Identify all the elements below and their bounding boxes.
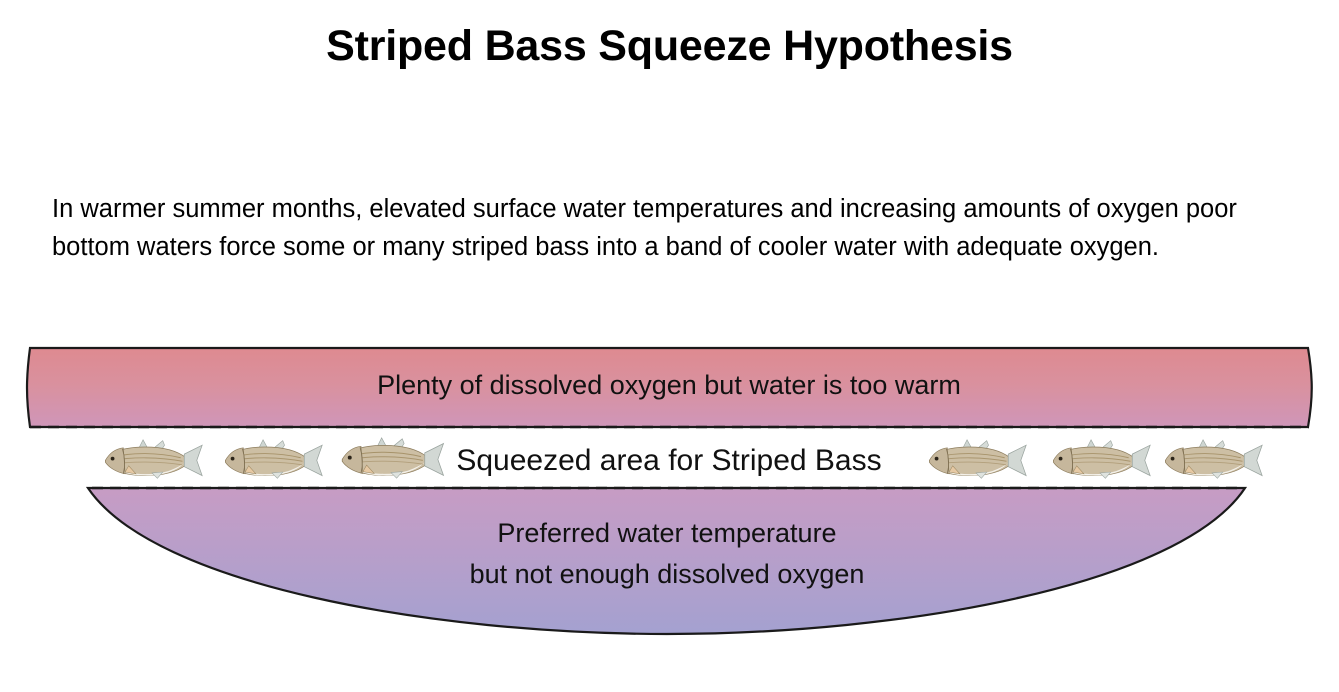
page-title: Striped Bass Squeeze Hypothesis: [0, 22, 1339, 71]
diagram-canvas: Plenty of dissolved oxygen but water is …: [0, 336, 1339, 646]
intro-paragraph: In warmer summer months, elevated surfac…: [52, 190, 1292, 266]
bottom-band-label-line-1: Preferred water temperature: [497, 518, 836, 548]
fish-icon: [225, 440, 322, 479]
bottom-band-label-line-2: but not enough dissolved oxygen: [470, 559, 865, 589]
fish-icon: [342, 438, 443, 478]
fish-icon: [105, 440, 202, 479]
top-band-label: Plenty of dissolved oxygen but water is …: [377, 370, 961, 400]
fish-icon: [1053, 440, 1150, 479]
layer-middle-squeezed-band: Squeezed area for Striped Bass: [105, 438, 1262, 478]
fish-icon: [929, 440, 1026, 479]
layer-bottom-hypoxic-water: Preferred water temperature but not enou…: [88, 488, 1245, 634]
fish-icon: [1165, 440, 1262, 479]
middle-band-label: Squeezed area for Striped Bass: [456, 444, 881, 477]
striped-bass-squeeze-diagram: Plenty of dissolved oxygen but water is …: [0, 336, 1339, 646]
layer-top-warm-water: Plenty of dissolved oxygen but water is …: [27, 348, 1312, 427]
